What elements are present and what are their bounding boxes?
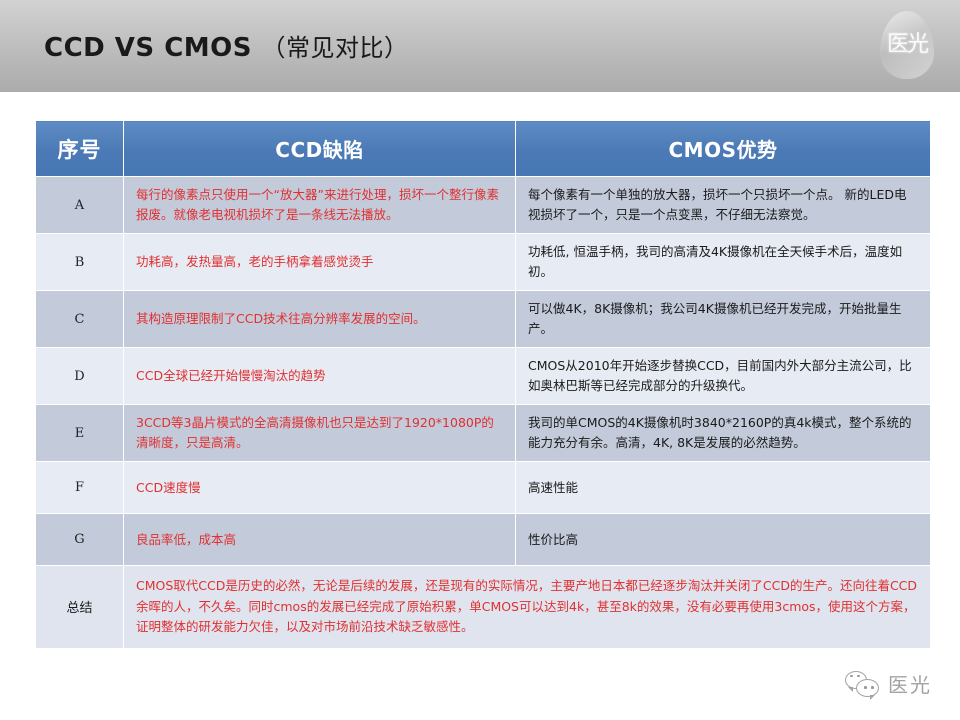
wechat-bubble-front (856, 679, 879, 697)
wechat-dot (864, 686, 867, 689)
row-index: F (36, 462, 124, 514)
table-summary-row: 总结 CMOS取代CCD是历史的必然，无论是后续的发展，还是现有的实际情况，主要… (36, 566, 931, 649)
page-title-zh: （常见对比） (262, 34, 409, 62)
row-cmos-text: 高速性能 (516, 462, 931, 514)
row-cmos-text: 可以做4K，8K摄像机；我公司4K摄像机已经开发完成，开始批量生产。 (516, 291, 931, 348)
row-ccd-text: CCD速度慢 (124, 462, 516, 514)
table-body: A 每行的像素点只使用一个“放大器”来进行处理，损坏一个整行像素报废。就像老电视… (36, 177, 931, 649)
footer-label: 医光 (888, 669, 932, 698)
row-cmos-text: CMOS从2010年开始逐步替换CCD，目前国内外大部分主流公司，比如奥林巴斯等… (516, 348, 931, 405)
slide-root: CCD VS CMOS （常见对比） 医光 序号 CCD缺陷 CMOS优势 A … (0, 0, 960, 720)
table-row: G 良品率低，成本高 性价比高 (36, 514, 931, 566)
table-row: A 每行的像素点只使用一个“放大器”来进行处理，损坏一个整行像素报废。就像老电视… (36, 177, 931, 234)
table-row: F CCD速度慢 高速性能 (36, 462, 931, 514)
table-header-row: 序号 CCD缺陷 CMOS优势 (36, 121, 931, 177)
row-ccd-text: 3CCD等3晶片模式的全高清摄像机也只是达到了1920*1080P的清晰度，只是… (124, 405, 516, 462)
row-ccd-text: CCD全球已经开始慢慢淘汰的趋势 (124, 348, 516, 405)
summary-label: 总结 (36, 566, 124, 649)
column-header-ccd: CCD缺陷 (124, 121, 516, 177)
table-header: 序号 CCD缺陷 CMOS优势 (36, 121, 931, 177)
row-ccd-text: 功耗高，发热量高，老的手柄拿着感觉烫手 (124, 234, 516, 291)
row-cmos-text: 每个像素有一个单独的放大器，损坏一个只损坏一个点。 新的LED电视损坏了一个，只… (516, 177, 931, 234)
table-row: E 3CCD等3晶片模式的全高清摄像机也只是达到了1920*1080P的清晰度，… (36, 405, 931, 462)
row-ccd-text: 每行的像素点只使用一个“放大器”来进行处理，损坏一个整行像素报废。就像老电视机损… (124, 177, 516, 234)
table-row: C 其构造原理限制了CCD技术往高分辨率发展的空间。 可以做4K，8K摄像机；我… (36, 291, 931, 348)
seal-logo-glyph: 医光 (876, 6, 938, 84)
row-index: E (36, 405, 124, 462)
row-index: G (36, 514, 124, 566)
wechat-dot (871, 686, 874, 689)
row-cmos-text: 功耗低, 恒温手柄，我司的高清及4K摄像机在全天候手术后，温度如初。 (516, 234, 931, 291)
row-index: D (36, 348, 124, 405)
summary-text: CMOS取代CCD是历史的必然，无论是后续的发展，还是现有的实际情况，主要产地日… (124, 566, 931, 649)
wechat-icon (845, 671, 879, 697)
table-row: D CCD全球已经开始慢慢淘汰的趋势 CMOS从2010年开始逐步替换CCD，目… (36, 348, 931, 405)
row-ccd-text: 良品率低，成本高 (124, 514, 516, 566)
row-cmos-text: 我司的单CMOS的4K摄像机时3840*2160P的真4k模式，整个系统的能力充… (516, 405, 931, 462)
row-index: A (36, 177, 124, 234)
page-title: CCD VS CMOS （常见对比） (44, 28, 409, 63)
row-cmos-text: 性价比高 (516, 514, 931, 566)
comparison-table: 序号 CCD缺陷 CMOS优势 A 每行的像素点只使用一个“放大器”来进行处理，… (35, 120, 931, 649)
row-index: B (36, 234, 124, 291)
row-index: C (36, 291, 124, 348)
page-title-en: CCD VS CMOS (44, 33, 252, 63)
wechat-dot (857, 675, 860, 678)
seal-logo-icon: 医光 (876, 6, 938, 84)
footer-watermark: 医光 (845, 669, 932, 698)
table-row: B 功耗高，发热量高，老的手柄拿着感觉烫手 功耗低, 恒温手柄，我司的高清及4K… (36, 234, 931, 291)
wechat-dot (850, 675, 853, 678)
row-ccd-text: 其构造原理限制了CCD技术往高分辨率发展的空间。 (124, 291, 516, 348)
column-header-index: 序号 (36, 121, 124, 177)
column-header-cmos: CMOS优势 (516, 121, 931, 177)
